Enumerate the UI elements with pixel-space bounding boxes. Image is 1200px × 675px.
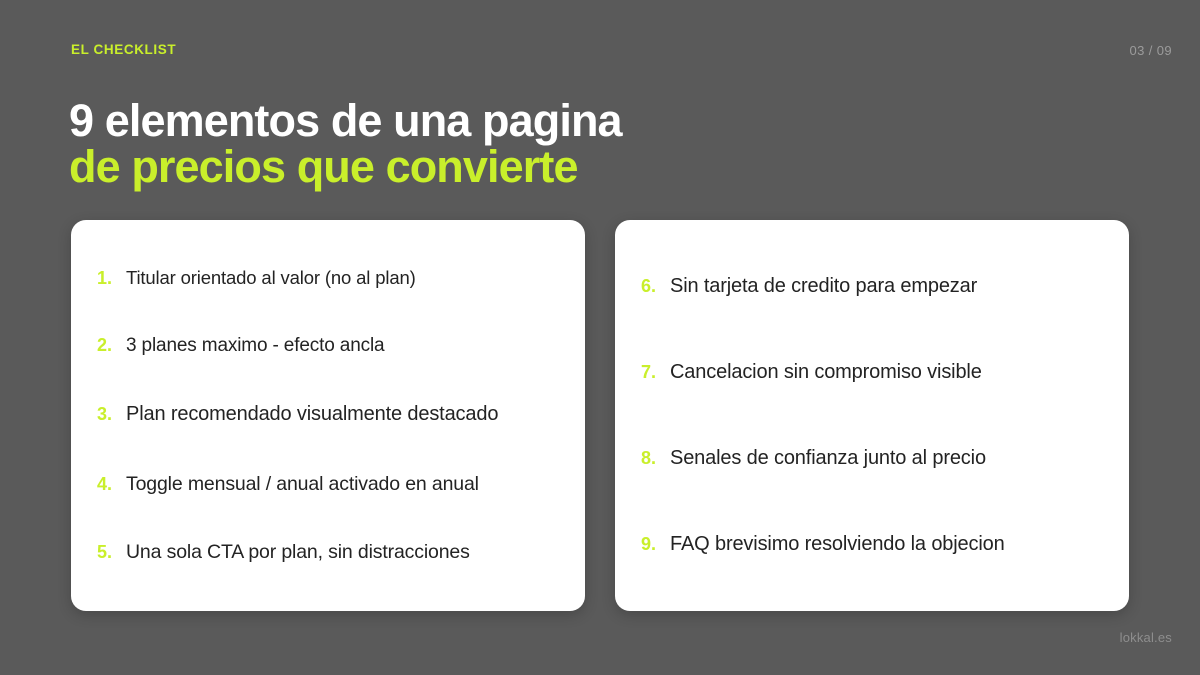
list-item-label: Toggle mensual / anual activado en anual — [126, 472, 479, 496]
page-title-line-1: 9 elementos de una pagina — [69, 98, 969, 144]
page-title: 9 elementos de una pagina de precios que… — [69, 98, 969, 190]
list-item-label: Senales de confianza junto al precio — [670, 446, 986, 471]
list-item: 5. Una sola CTA por plan, sin distraccio… — [97, 540, 563, 564]
list-item: 1. Titular orientado al valor (no al pla… — [97, 266, 563, 289]
list-item-number: 8. — [641, 448, 661, 469]
list-item-label: Titular orientado al valor (no al plan) — [126, 266, 416, 289]
list-item: 3. Plan recomendado visualmente destacad… — [97, 402, 563, 427]
brand-watermark: lokkal.es — [1120, 631, 1172, 644]
list-item-number: 9. — [641, 534, 661, 555]
list-item-label: Sin tarjeta de credito para empezar — [670, 274, 977, 299]
checklist-cards-container: 1. Titular orientado al valor (no al pla… — [71, 220, 1129, 611]
list-item: 6. Sin tarjeta de credito para empezar — [641, 274, 1107, 299]
checklist-card-left: 1. Titular orientado al valor (no al pla… — [71, 220, 585, 611]
page-title-line-2: de precios que convierte — [69, 144, 969, 190]
list-item-label: 3 planes maximo - efecto ancla — [126, 334, 384, 358]
presentation-slide: EL CHECKLIST 03 / 09 9 elementos de una … — [0, 0, 1200, 675]
list-item-number: 1. — [97, 268, 117, 289]
list-item-label: Una sola CTA por plan, sin distracciones — [126, 540, 470, 564]
list-item-number: 7. — [641, 362, 661, 383]
list-item-label: Plan recomendado visualmente destacado — [126, 402, 498, 427]
list-item: 2. 3 planes maximo - efecto ancla — [97, 334, 563, 358]
list-item-number: 4. — [97, 474, 117, 495]
slide-eyebrow-label: EL CHECKLIST — [71, 43, 176, 57]
list-item: 9. FAQ brevisimo resolviendo la objecion — [641, 532, 1107, 557]
list-item-label: FAQ brevisimo resolviendo la objecion — [670, 532, 1005, 557]
list-item: 7. Cancelacion sin compromiso visible — [641, 360, 1107, 385]
list-item-number: 3. — [97, 404, 117, 425]
list-item-number: 5. — [97, 542, 117, 563]
slide-page-indicator: 03 / 09 — [1129, 44, 1172, 57]
list-item-number: 6. — [641, 276, 661, 297]
list-item-number: 2. — [97, 335, 117, 356]
list-item: 4. Toggle mensual / anual activado en an… — [97, 472, 563, 496]
list-item-label: Cancelacion sin compromiso visible — [670, 360, 982, 385]
checklist-card-right: 6. Sin tarjeta de credito para empezar 7… — [615, 220, 1129, 611]
list-item: 8. Senales de confianza junto al precio — [641, 446, 1107, 471]
